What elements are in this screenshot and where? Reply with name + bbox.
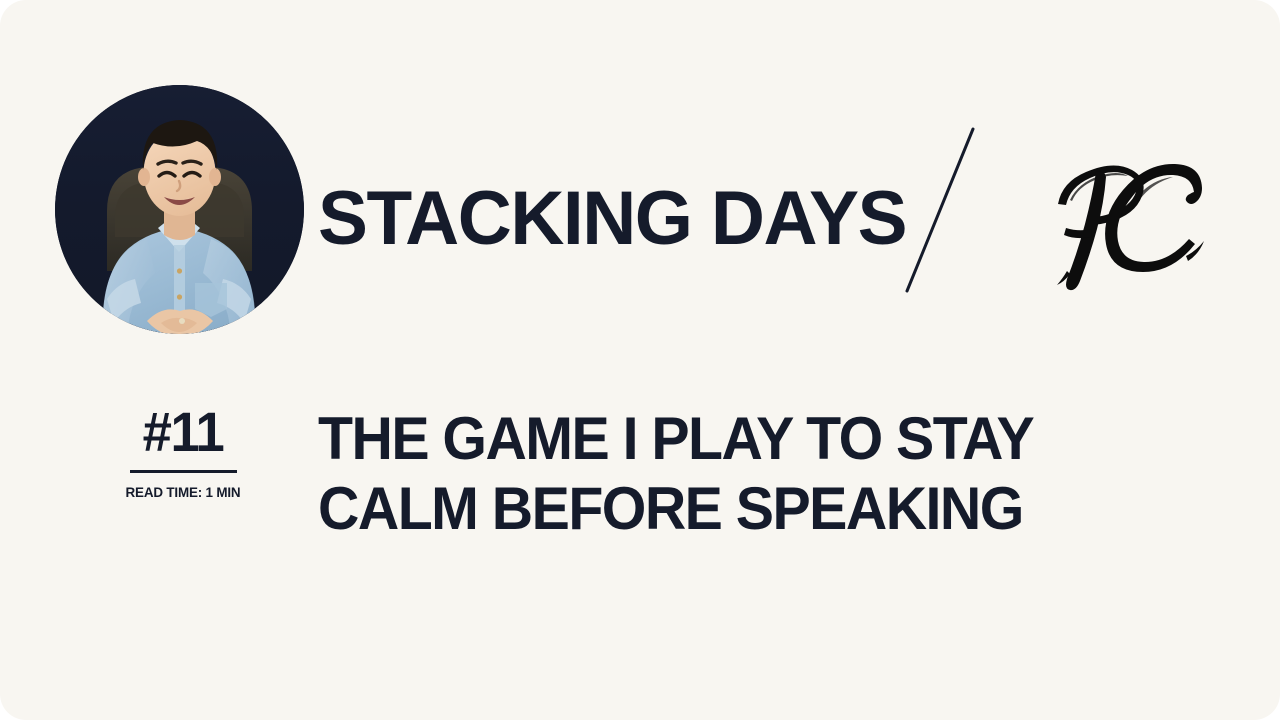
pc-monogram-icon xyxy=(1036,156,1212,292)
brand-title: STACKING DAYS xyxy=(318,181,906,257)
diagonal-divider-icon xyxy=(895,122,985,298)
avatar xyxy=(55,85,304,334)
headline-line-2: CALM BEFORE SPEAKING xyxy=(318,474,1101,544)
headline: THE GAME I PLAY TO STAY CALM BEFORE SPEA… xyxy=(318,404,1101,544)
brand-header: STACKING DAYS xyxy=(0,0,1280,380)
issue-number: #11 xyxy=(97,404,268,460)
read-time-label: READ TIME: 1 MIN xyxy=(96,484,271,500)
issue-block: #11 READ TIME: 1 MIN xyxy=(92,404,274,500)
issue-divider xyxy=(130,470,237,473)
newsletter-header-card: STACKING DAYS xyxy=(0,0,1280,720)
headline-line-1: THE GAME I PLAY TO STAY xyxy=(318,404,1101,474)
